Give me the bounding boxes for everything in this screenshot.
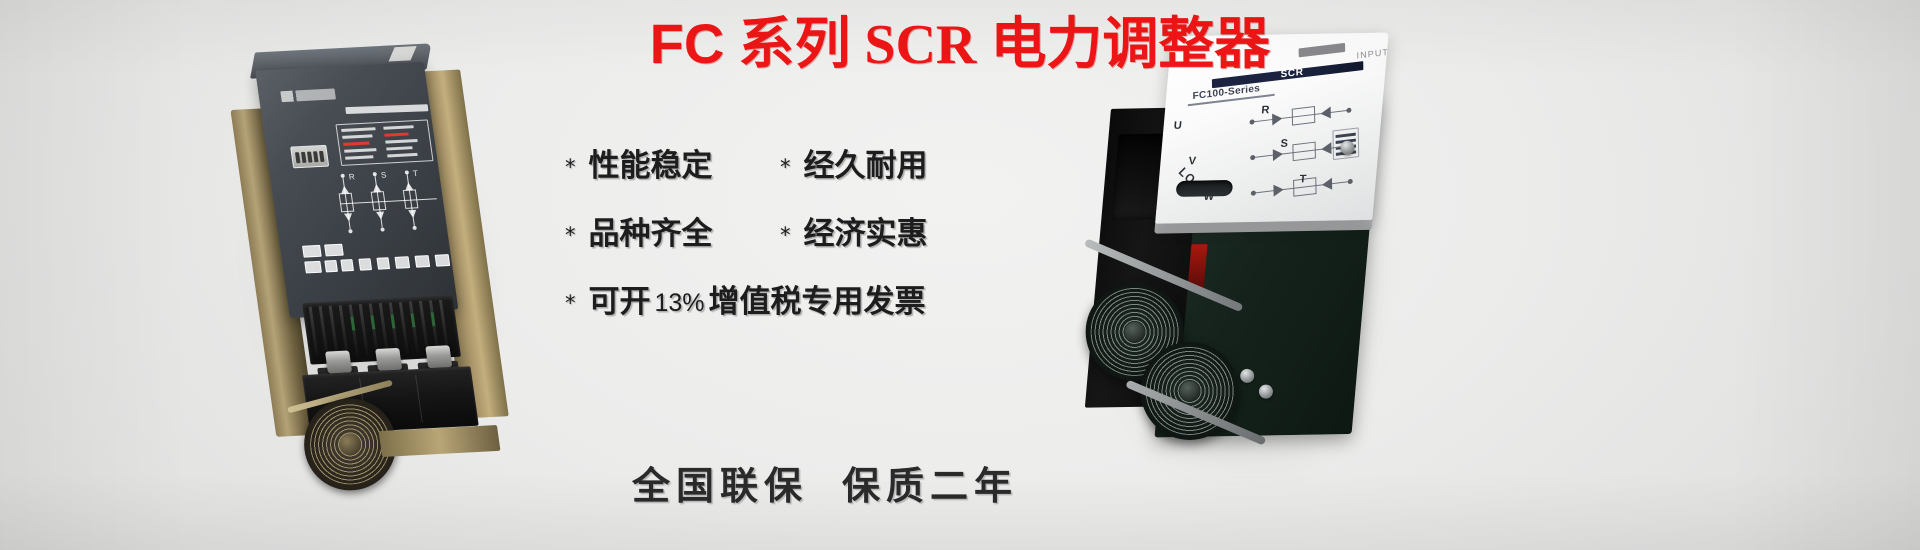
feature-label: 品种齐全 <box>589 208 713 253</box>
product-image-left: R S T <box>206 21 559 459</box>
feature-row-tax: * 可开 13% 增值税专用发票 <box>565 276 1015 318</box>
product-left-base-foot <box>379 425 501 457</box>
feature-label: 经久耐用 <box>804 140 928 185</box>
promotional-banner: R S T <box>0 0 1920 550</box>
product-left-spec-table <box>335 119 433 165</box>
tax-prefix-label: 可开 <box>589 276 651 321</box>
product-right-circuit-diagram-icon <box>1238 96 1369 222</box>
product-right-terminal-v: V <box>1188 155 1196 167</box>
slogan-nationwide-warranty: 全国联保 <box>632 463 808 508</box>
product-left-circuit-diagram-icon: R S T <box>332 165 451 248</box>
feature-item: * 经久耐用 <box>780 140 928 185</box>
svg-text:S: S <box>380 171 387 180</box>
svg-text:T: T <box>412 169 418 178</box>
product-right-handle <box>1176 180 1234 197</box>
feature-list: * 性能稳定 * 经久耐用 * 品种齐全 * 经济实惠 * 可开 13% <box>565 140 1015 344</box>
bullet-star-icon: * <box>565 155 576 179</box>
product-right-terminal-s: S <box>1280 138 1288 150</box>
headline-part-fc: FC <box>650 12 725 75</box>
headline-part-regulator: 电力调整器 <box>990 12 1270 77</box>
feature-item: * 品种齐全 <box>565 208 780 253</box>
feature-item: * 性能稳定 <box>565 140 780 185</box>
tax-percent-value: 13% <box>651 289 709 318</box>
bullet-star-icon: * <box>565 291 576 315</box>
product-right-terminal-r: R <box>1261 104 1270 116</box>
feature-label: 性能稳定 <box>589 140 713 185</box>
bullet-star-icon: * <box>780 223 791 247</box>
banner-headline: FC系列SCR电力调整器 <box>0 8 1920 81</box>
product-right-terminal-u: U <box>1173 120 1182 132</box>
bullet-star-icon: * <box>780 155 791 179</box>
feature-row: * 性能稳定 * 经久耐用 <box>565 140 1015 182</box>
svg-text:R: R <box>348 172 355 181</box>
headline-part-scr: SCR <box>864 14 976 76</box>
slogan-two-year-quality: 保质二年 <box>842 463 1018 508</box>
product-left-terminal-block <box>298 236 459 280</box>
bullet-star-icon: * <box>565 223 576 247</box>
product-left-model-label <box>345 104 428 114</box>
tax-suffix-label: 增值税专用发票 <box>709 276 926 321</box>
feature-item-tax: * 可开 13% 增值税专用发票 <box>565 276 926 321</box>
product-right-terminal-t: T <box>1299 173 1307 185</box>
product-left-dip-switch <box>290 145 329 169</box>
feature-item: * 经济实惠 <box>780 208 928 253</box>
feature-row: * 品种齐全 * 经济实惠 <box>565 208 1015 250</box>
product-left-brand-logo-icon <box>280 88 336 102</box>
product-left-faceplate: R S T <box>255 62 458 318</box>
warranty-slogan: 全国联保保质二年 <box>565 455 1085 510</box>
feature-label: 经济实惠 <box>804 208 928 253</box>
headline-part-series: 系列 <box>738 12 850 77</box>
